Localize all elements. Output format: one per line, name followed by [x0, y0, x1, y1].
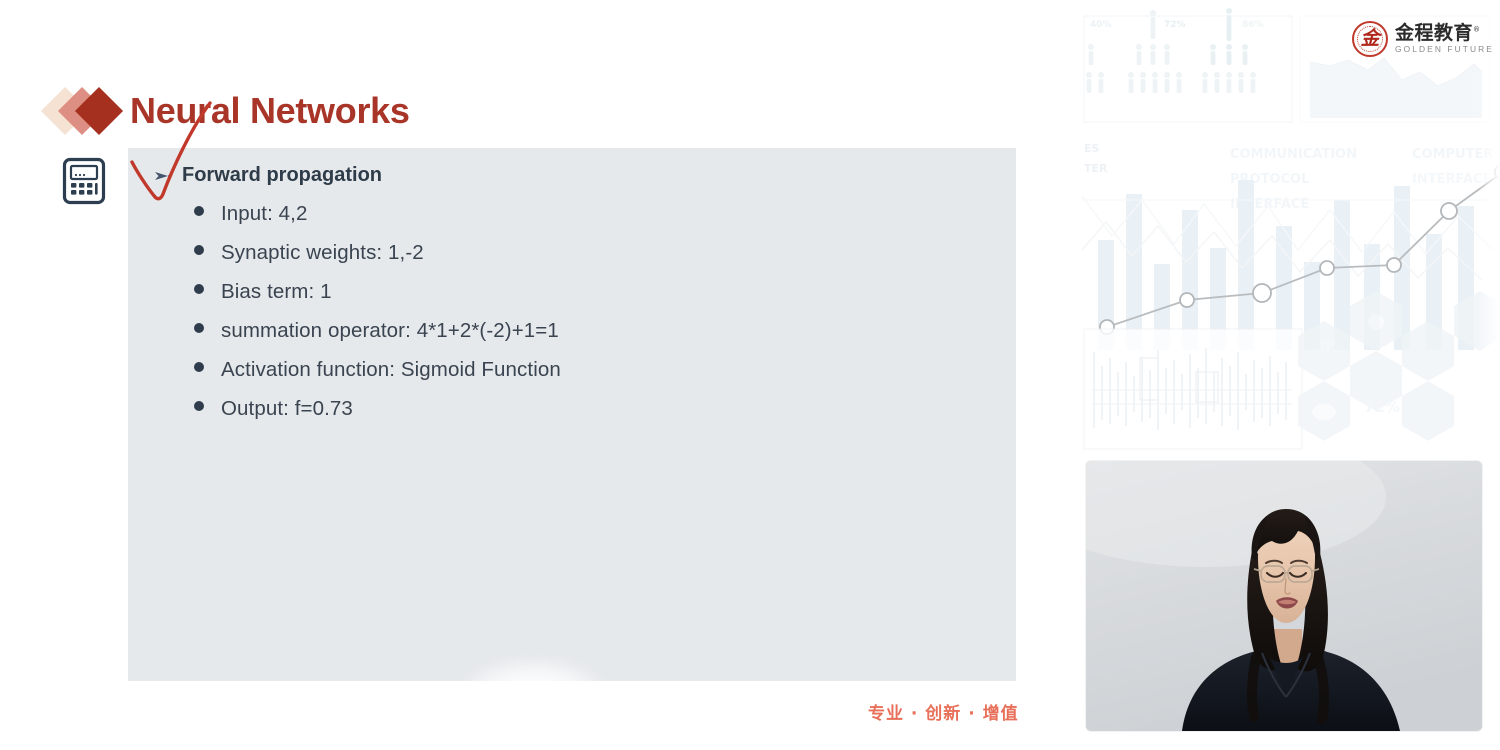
bullet-dot-icon — [194, 245, 204, 255]
panel-bottom-glow — [458, 659, 608, 681]
bullet-dot-icon — [194, 401, 204, 411]
arrow-bullet-icon — [154, 169, 172, 183]
list-item: Bias term: 1 — [194, 280, 561, 319]
list-item-label: summation operator: 4*1+2*(-2)+1=1 — [221, 319, 559, 343]
brand-name-cn-text: 金程教育 — [1395, 22, 1473, 44]
bullet-dot-icon — [194, 323, 204, 333]
brand-logo-text: 金程教育® GOLDEN FUTURE — [1395, 24, 1494, 53]
list-item-label: Input: 4,2 — [221, 202, 307, 226]
svg-text:86%: 86% — [1242, 20, 1264, 30]
svg-text:40%: 40% — [1310, 338, 1346, 356]
bullet-dot-icon — [194, 284, 204, 294]
slide-title-row: Neural Networks — [48, 80, 410, 142]
list-item-label: Output: f=0.73 — [221, 397, 353, 421]
list-item: Output: f=0.73 — [194, 397, 561, 436]
slide-content-panel: Forward propagation Input: 4,2 Synaptic … — [128, 148, 1016, 681]
bullet-list: Input: 4,2 Synaptic weights: 1,-2 Bias t… — [194, 202, 561, 436]
bullet-dot-icon — [194, 362, 204, 372]
svg-text:72%: 72% — [1364, 398, 1400, 416]
diamond-cluster-icon — [48, 85, 128, 137]
list-item: summation operator: 4*1+2*(-2)+1=1 — [194, 319, 561, 358]
brand-logo: 金 金程教育® GOLDEN FUTURE — [1352, 19, 1488, 59]
footer-slogan: 专业 · 创新 · 增值 — [868, 699, 1019, 724]
brand-name-cn: 金程教育® — [1395, 24, 1494, 43]
slide-canvas: 40% 72% 86% — [0, 0, 1500, 750]
presenter-video-feed[interactable] — [1086, 461, 1482, 731]
list-item-label: Bias term: 1 — [221, 280, 332, 304]
brand-registered-mark: ® — [1473, 26, 1481, 34]
list-item-label: Synaptic weights: 1,-2 — [221, 241, 424, 265]
bullet-dot-icon — [194, 206, 204, 216]
list-item: Input: 4,2 — [194, 202, 561, 241]
calculator-icon — [62, 157, 106, 205]
list-item-label: Activation function: Sigmoid Function — [221, 358, 561, 382]
svg-text:ES: ES — [1084, 142, 1100, 155]
panel-heading: Forward propagation — [182, 164, 382, 187]
page-title: Neural Networks — [130, 90, 410, 132]
brand-name-en: GOLDEN FUTURE — [1395, 45, 1494, 53]
brand-seal-glyph: 金 — [1354, 30, 1386, 49]
panel-heading-row: Forward propagation — [154, 164, 382, 187]
svg-text:TER: TER — [1084, 162, 1108, 175]
svg-text:COMMUNICATION: COMMUNICATION — [1230, 147, 1357, 162]
svg-text:72%: 72% — [1164, 20, 1186, 30]
svg-text:40%: 40% — [1090, 20, 1112, 30]
list-item: Synaptic weights: 1,-2 — [194, 241, 561, 280]
background-graphic: 40% 72% 86% — [1082, 0, 1500, 455]
brand-seal-icon: 金 — [1352, 21, 1388, 57]
list-item: Activation function: Sigmoid Function — [194, 358, 561, 397]
